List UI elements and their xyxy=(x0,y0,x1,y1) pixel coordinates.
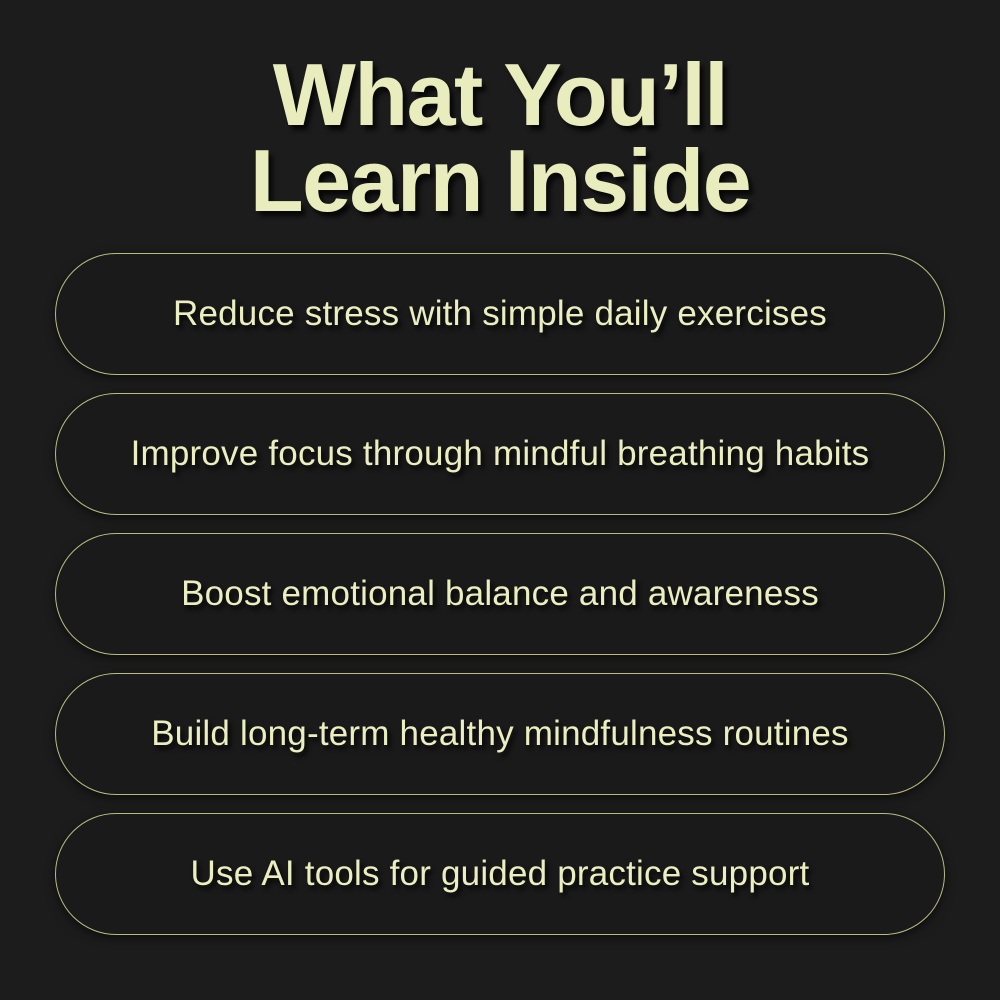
benefit-label: Build long-term healthy mindfulness rout… xyxy=(108,713,892,754)
benefit-list: Reduce stress with simple daily exercise… xyxy=(55,253,945,935)
benefit-label: Boost emotional balance and awareness xyxy=(108,573,892,614)
page-title-line-1: What You’ll xyxy=(60,52,940,138)
page-title: What You’ll Learn Inside xyxy=(60,52,940,224)
page-title-line-2: Learn Inside xyxy=(60,138,940,224)
slide-canvas: What You’ll Learn Inside Reduce stress w… xyxy=(0,0,1000,1000)
benefit-label: Improve focus through mindful breathing … xyxy=(108,433,892,474)
benefit-label: Reduce stress with simple daily exercise… xyxy=(108,293,892,334)
benefit-label: Use AI tools for guided practice support xyxy=(108,853,892,894)
list-item[interactable]: Reduce stress with simple daily exercise… xyxy=(55,253,945,375)
list-item[interactable]: Use AI tools for guided practice support xyxy=(55,813,945,935)
list-item[interactable]: Boost emotional balance and awareness xyxy=(55,533,945,655)
list-item[interactable]: Improve focus through mindful breathing … xyxy=(55,393,945,515)
list-item[interactable]: Build long-term healthy mindfulness rout… xyxy=(55,673,945,795)
